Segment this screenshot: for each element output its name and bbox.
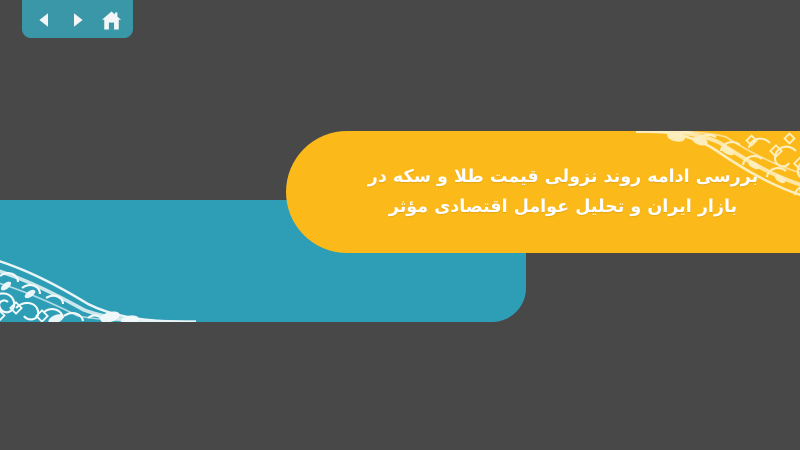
- title-panel: بررسی ادامه روند نزولی قیمت طلا و سکه در…: [286, 131, 800, 253]
- home-icon: [101, 10, 122, 31]
- forward-icon: [68, 10, 88, 30]
- yellow-arabesque-ornament: [636, 131, 800, 253]
- back-icon: [34, 10, 54, 30]
- back-button[interactable]: [33, 9, 55, 31]
- home-button[interactable]: [100, 9, 122, 31]
- forward-button[interactable]: [67, 9, 89, 31]
- navigation-bar: [22, 0, 133, 38]
- teal-arabesque-ornament: [0, 200, 196, 322]
- slide-canvas: بررسی ادامه روند نزولی قیمت طلا و سکه در…: [0, 0, 800, 450]
